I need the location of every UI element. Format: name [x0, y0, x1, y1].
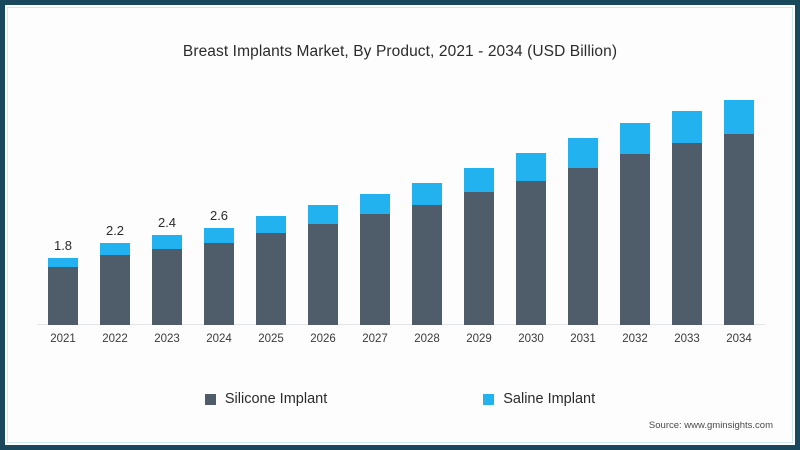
- bar-segment-saline-implant[interactable]: [152, 235, 182, 249]
- bar-stack[interactable]: [568, 138, 598, 326]
- x-tick-label-2025: 2025: [244, 333, 298, 345]
- bar-segment-silicone-implant[interactable]: [100, 255, 130, 326]
- bar-segment-silicone-implant[interactable]: [724, 134, 754, 325]
- legend-item-silicone-implant[interactable]: Silicone Implant: [205, 391, 327, 407]
- legend-label: Saline Implant: [503, 391, 595, 407]
- x-tick-label-2034: 2034: [712, 333, 766, 345]
- bar-group[interactable]: 2.2: [100, 243, 130, 326]
- bar-stack[interactable]: 2.6: [204, 228, 234, 326]
- x-tick-label-2030: 2030: [504, 333, 558, 345]
- legend-swatch-icon: [483, 394, 494, 405]
- bar-stack[interactable]: [256, 216, 286, 325]
- bar-stack[interactable]: [672, 111, 702, 325]
- legend-label: Silicone Implant: [225, 391, 327, 407]
- bar-stack[interactable]: [412, 183, 442, 326]
- bar-segment-silicone-implant[interactable]: [412, 205, 442, 325]
- x-axis-tick-labels: 2021202220232024202520262027202820292030…: [37, 333, 765, 353]
- bar-segment-saline-implant[interactable]: [672, 111, 702, 143]
- bar-segment-saline-implant[interactable]: [360, 194, 390, 215]
- bar-segment-silicone-implant[interactable]: [256, 233, 286, 325]
- bar-segment-saline-implant[interactable]: [204, 228, 234, 243]
- x-tick-label-2033: 2033: [660, 333, 714, 345]
- x-tick-label-2022: 2022: [88, 333, 142, 345]
- bar-group[interactable]: 2.4: [152, 235, 182, 325]
- bar-stack[interactable]: [620, 123, 650, 326]
- page-title: Breast Implants Market, By Product, 2021…: [5, 43, 795, 61]
- bar-stack[interactable]: [360, 194, 390, 325]
- x-tick-label-2023: 2023: [140, 333, 194, 345]
- x-tick-label-2026: 2026: [296, 333, 350, 345]
- bar-segment-silicone-implant[interactable]: [620, 154, 650, 325]
- bar-group[interactable]: [620, 123, 650, 326]
- bar-segment-saline-implant[interactable]: [48, 258, 78, 268]
- bar-segment-silicone-implant[interactable]: [152, 249, 182, 326]
- bar-group[interactable]: 1.8: [48, 258, 78, 326]
- x-tick-label-2027: 2027: [348, 333, 402, 345]
- chart-frame: Breast Implants Market, By Product, 2021…: [0, 0, 800, 450]
- bar-stack[interactable]: 2.2: [100, 243, 130, 326]
- bar-stack[interactable]: 2.4: [152, 235, 182, 325]
- x-tick-label-2032: 2032: [608, 333, 662, 345]
- bar-segment-silicone-implant[interactable]: [308, 224, 338, 325]
- bar-group[interactable]: [724, 100, 754, 325]
- bar-stack[interactable]: [464, 168, 494, 326]
- bar-group[interactable]: [256, 216, 286, 325]
- bar-value-label: 2.6: [210, 208, 228, 223]
- bar-segment-silicone-implant[interactable]: [204, 243, 234, 326]
- plot-area: 1.82.22.42.6: [37, 85, 765, 325]
- bar-group[interactable]: 2.6: [204, 228, 234, 326]
- bar-value-label: 1.8: [54, 238, 72, 253]
- bar-stack[interactable]: [516, 153, 546, 326]
- x-axis-baseline: [37, 324, 765, 325]
- bar-group[interactable]: [568, 138, 598, 326]
- legend-item-saline-implant[interactable]: Saline Implant: [483, 391, 595, 407]
- chart-canvas: Breast Implants Market, By Product, 2021…: [5, 5, 795, 445]
- x-tick-label-2029: 2029: [452, 333, 506, 345]
- bar-segment-saline-implant[interactable]: [724, 100, 754, 134]
- bar-segment-saline-implant[interactable]: [412, 183, 442, 206]
- source-attribution: Source: www.gminsights.com: [649, 420, 773, 431]
- bar-value-label: 2.4: [158, 215, 176, 230]
- bar-segment-saline-implant[interactable]: [516, 153, 546, 181]
- bar-segment-saline-implant[interactable]: [620, 123, 650, 155]
- chart-legend: Silicone ImplantSaline Implant: [5, 391, 795, 407]
- bar-segment-saline-implant[interactable]: [100, 243, 130, 255]
- bar-stack[interactable]: 1.8: [48, 258, 78, 326]
- x-tick-label-2024: 2024: [192, 333, 246, 345]
- bar-stack[interactable]: [724, 100, 754, 325]
- bar-segment-saline-implant[interactable]: [568, 138, 598, 168]
- bar-segment-saline-implant[interactable]: [256, 216, 286, 233]
- bar-segment-silicone-implant[interactable]: [48, 267, 78, 325]
- bar-segment-saline-implant[interactable]: [464, 168, 494, 192]
- bar-segment-silicone-implant[interactable]: [672, 143, 702, 325]
- x-tick-label-2021: 2021: [36, 333, 90, 345]
- bar-group[interactable]: [360, 194, 390, 325]
- bar-segment-silicone-implant[interactable]: [464, 192, 494, 325]
- bar-stack[interactable]: [308, 205, 338, 325]
- bar-group[interactable]: [412, 183, 442, 326]
- bar-group[interactable]: [672, 111, 702, 325]
- bar-segment-saline-implant[interactable]: [308, 205, 338, 224]
- x-tick-label-2031: 2031: [556, 333, 610, 345]
- legend-swatch-icon: [205, 394, 216, 405]
- x-tick-label-2028: 2028: [400, 333, 454, 345]
- bar-segment-silicone-implant[interactable]: [568, 168, 598, 326]
- bar-segment-silicone-implant[interactable]: [360, 214, 390, 325]
- bar-value-label: 2.2: [106, 223, 124, 238]
- bar-segment-silicone-implant[interactable]: [516, 181, 546, 325]
- bar-group[interactable]: [516, 153, 546, 326]
- bar-group[interactable]: [308, 205, 338, 325]
- bar-group[interactable]: [464, 168, 494, 326]
